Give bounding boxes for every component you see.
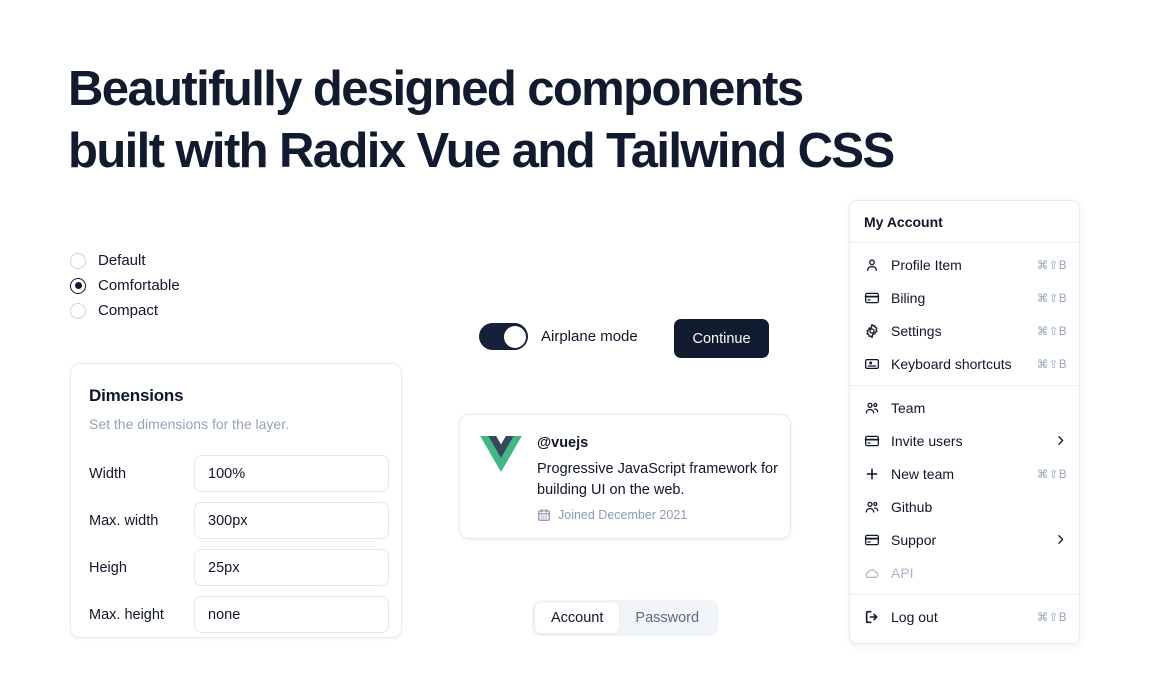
radio-indicator[interactable] (70, 278, 86, 294)
dimension-input-1[interactable] (194, 502, 389, 539)
dimension-label: Heigh (89, 560, 194, 576)
airplane-mode-row: Airplane mode (479, 323, 638, 350)
vue-hover-card-body: @vuejs Progressive JavaScript framework … (537, 434, 782, 538)
plus-icon (864, 466, 880, 482)
radio-label: Compact (98, 302, 158, 319)
account-dropdown-menu: My Account Profile Item⌘⇧BBiling⌘⇧BSetti… (849, 200, 1080, 644)
vue-hover-card: @vuejs Progressive JavaScript framework … (459, 414, 791, 539)
menu-item-invite-users[interactable]: Invite users (850, 424, 1079, 457)
credit-card-icon (864, 433, 880, 449)
users-icon (864, 499, 880, 515)
tab-password[interactable]: Password (619, 603, 715, 633)
menu-item-label: Github (891, 499, 1067, 515)
logout-icon (864, 609, 880, 625)
cloud-icon (864, 565, 880, 581)
menu-item-label: Suppor (891, 532, 1043, 548)
credit-card-icon (864, 532, 880, 548)
menu-item-shortcut: ⌘⇧B (1037, 324, 1067, 338)
radio-option-default[interactable]: Default (70, 248, 180, 273)
credit-card-icon (864, 290, 880, 306)
credit-card-icon (864, 433, 880, 449)
menu-item-label: Team (891, 400, 1067, 416)
page-title: Beautifully designed components built wi… (68, 58, 1028, 182)
menu-item-shortcut: ⌘⇧B (1037, 291, 1067, 305)
user-icon (864, 257, 880, 273)
dimension-input-0[interactable] (194, 455, 389, 492)
page-title-line-1: Beautifully designed components (68, 58, 1028, 120)
menu-item-team[interactable]: Team (850, 391, 1079, 424)
menu-item-shortcut: ⌘⇧B (1037, 610, 1067, 624)
radio-group: DefaultComfortableCompact (70, 248, 180, 323)
users-icon (864, 400, 880, 416)
airplane-mode-label: Airplane mode (541, 328, 638, 345)
menu-item-label: Profile Item (891, 257, 1026, 273)
dimensions-subtitle: Set the dimensions for the layer. (89, 416, 381, 432)
vue-handle: @vuejs (537, 435, 782, 451)
gear-icon (864, 323, 880, 339)
menu-item-label: Biling (891, 290, 1026, 306)
menu-item-log-out[interactable]: Log out⌘⇧B (850, 600, 1079, 633)
tab-list: AccountPassword (532, 600, 718, 636)
menu-group: Log out⌘⇧B (850, 595, 1079, 638)
dimension-row: Max. width (89, 497, 381, 544)
menu-item-label: Settings (891, 323, 1026, 339)
vue-joined-text: Joined December 2021 (558, 508, 687, 522)
radio-option-compact[interactable]: Compact (70, 298, 180, 323)
menu-item-keyboard-shortcuts[interactable]: Keyboard shortcuts⌘⇧B (850, 347, 1079, 380)
calendar-icon (537, 508, 551, 522)
keyboard-icon (864, 356, 880, 372)
menu-item-label: New team (891, 466, 1026, 482)
chevron-right-icon (1054, 434, 1067, 447)
airplane-mode-switch[interactable] (479, 323, 528, 350)
menu-item-biling[interactable]: Biling⌘⇧B (850, 281, 1079, 314)
menu-item-shortcut: ⌘⇧B (1037, 467, 1067, 481)
menu-group: TeamInvite usersNew team⌘⇧BGithubSupporA… (850, 386, 1079, 594)
radio-indicator[interactable] (70, 253, 86, 269)
menu-item-new-team[interactable]: New team⌘⇧B (850, 457, 1079, 490)
users-icon (864, 400, 880, 416)
menu-item-shortcut: ⌘⇧B (1037, 258, 1067, 272)
menu-item-profile-item[interactable]: Profile Item⌘⇧B (850, 248, 1079, 281)
menu-item-suppor[interactable]: Suppor (850, 523, 1079, 556)
dimensions-card: Dimensions Set the dimensions for the la… (70, 363, 402, 638)
menu-groups: Profile Item⌘⇧BBiling⌘⇧BSettings⌘⇧BKeybo… (850, 243, 1079, 638)
menu-item-label: Invite users (891, 433, 1043, 449)
dimension-row: Width (89, 450, 381, 497)
dimension-label: Max. height (89, 607, 194, 623)
menu-title: My Account (850, 201, 1079, 242)
menu-item-shortcut: ⌘⇧B (1037, 357, 1067, 371)
dimension-row: Max. height (89, 591, 381, 638)
menu-item-github[interactable]: Github (850, 490, 1079, 523)
user-icon (864, 257, 880, 273)
page-root: Beautifully designed components built wi… (0, 0, 1152, 700)
vue-joined-row: Joined December 2021 (537, 508, 782, 522)
radio-option-comfortable[interactable]: Comfortable (70, 273, 180, 298)
menu-item-settings[interactable]: Settings⌘⇧B (850, 314, 1079, 347)
users-icon (864, 499, 880, 515)
switch-knob (504, 326, 526, 348)
dimensions-title: Dimensions (89, 386, 381, 406)
dimension-label: Max. width (89, 513, 194, 529)
radio-indicator[interactable] (70, 303, 86, 319)
continue-button[interactable]: Continue (674, 319, 769, 358)
keyboard-icon (864, 356, 880, 372)
dimensions-fields: WidthMax. widthHeighMax. height (89, 450, 381, 638)
menu-item-api: API (850, 556, 1079, 589)
gear-icon (864, 323, 880, 339)
page-title-line-2: built with Radix Vue and Tailwind CSS (68, 120, 1028, 182)
menu-item-label: Keyboard shortcuts (891, 356, 1026, 372)
logout-icon (864, 609, 880, 625)
menu-item-label: Log out (891, 609, 1026, 625)
dimension-label: Width (89, 466, 194, 482)
radio-label: Default (98, 252, 146, 269)
vue-description: Progressive JavaScript framework for bui… (537, 459, 782, 501)
plus-icon (864, 466, 880, 482)
dimension-input-3[interactable] (194, 596, 389, 633)
dimension-row: Heigh (89, 544, 381, 591)
vue-logo-icon (480, 436, 522, 472)
menu-group: Profile Item⌘⇧BBiling⌘⇧BSettings⌘⇧BKeybo… (850, 243, 1079, 385)
tab-account[interactable]: Account (535, 603, 619, 633)
credit-card-icon (864, 532, 880, 548)
credit-card-icon (864, 290, 880, 306)
cloud-icon (864, 565, 880, 581)
chevron-right-icon (1054, 533, 1067, 546)
dimension-input-2[interactable] (194, 549, 389, 586)
radio-label: Comfortable (98, 277, 180, 294)
menu-item-label: API (891, 565, 1067, 581)
